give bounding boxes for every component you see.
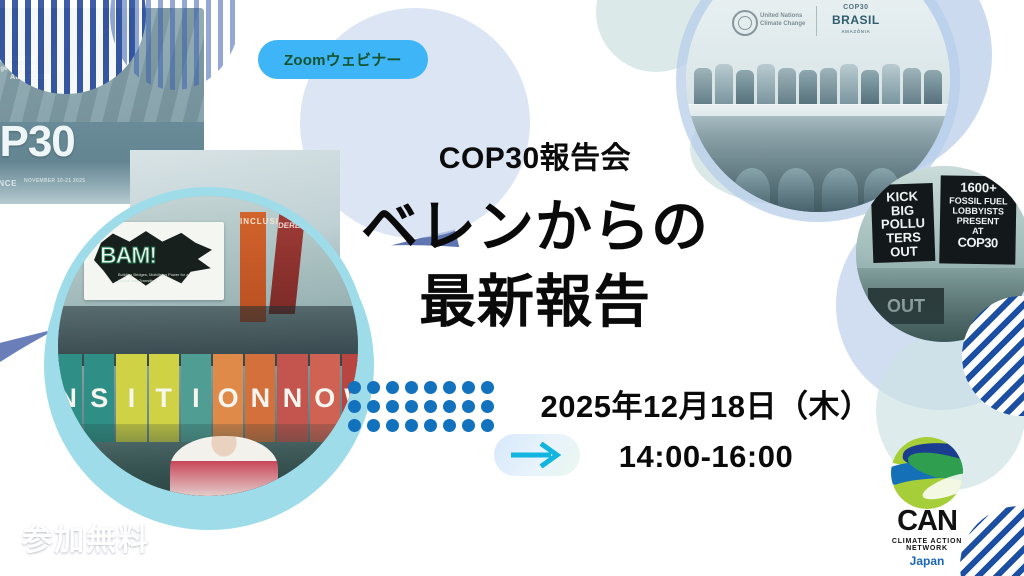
photo-cop30-hashtag: #COP30 <box>0 120 75 164</box>
un-climate-change-icon <box>732 10 758 36</box>
un-climate-change-label: United NationsClimate Change <box>0 58 7 74</box>
can-globe-icon <box>891 437 963 509</box>
can-japan-logo: CAN CLIMATE ACTION NETWORK Japan <box>873 437 981 555</box>
event-time: 14:00-16:00 <box>516 432 896 482</box>
photo-plenary-delegates <box>694 52 942 108</box>
event-date: 2025年12月18日（木） <box>541 389 872 424</box>
poster-canvas: United NationsClimate Change COP30BRASIL… <box>0 0 1024 576</box>
bam-banner-title: BAM! <box>100 242 156 269</box>
event-kicker: COP30報告会 <box>330 133 740 177</box>
event-schedule: 2025年12月18日（木） 14:00-16:00 <box>516 382 896 481</box>
free-admission-label: 参加無料 <box>22 515 150 559</box>
headline-line-2: 最新報告 <box>300 265 770 340</box>
bam-banner-subtitle: Building Bridges, Mobilising Power for a… <box>118 272 192 283</box>
logo-divider <box>816 6 817 36</box>
photo-kick-big-polluters-out: KICKBIGPOLLUTERSOUT 1600+FOSSIL FUELLOBB… <box>856 166 1024 342</box>
headline-line-1: ベレンからの <box>361 195 709 259</box>
zoom-webinar-badge: Zoomウェビナー <box>258 40 428 79</box>
sign-fossil-fuel-lobbyists: 1600+FOSSIL FUELLOBBYISTSPRESENTATCOP30 <box>939 175 1017 264</box>
un-climate-change-label: United NationsClimate Change <box>760 12 805 28</box>
photo-protest-dancer <box>170 436 278 496</box>
can-logo-region: Japan <box>873 554 981 568</box>
decor-dot-grid <box>348 381 500 438</box>
cop30-brasil-mark: COP30BRASILAMAZÔNIA <box>10 56 51 82</box>
sign-kick-big-polluters-out: KICKBIGPOLLUTERSOUT <box>871 183 936 263</box>
can-logo-tagline: CLIMATE ACTION NETWORK <box>873 538 981 552</box>
photo-kbpo-crowd <box>856 268 1024 342</box>
cop30-brasil-mark: COP30BRASILAMAZÔNIA <box>832 4 880 37</box>
can-logo-wordmark: CAN <box>873 507 981 536</box>
photo-bam-banner: BAM! Building Bridges, Mobilising Power … <box>84 222 224 300</box>
page-title: ベレンからの 最新報告 <box>300 190 770 340</box>
